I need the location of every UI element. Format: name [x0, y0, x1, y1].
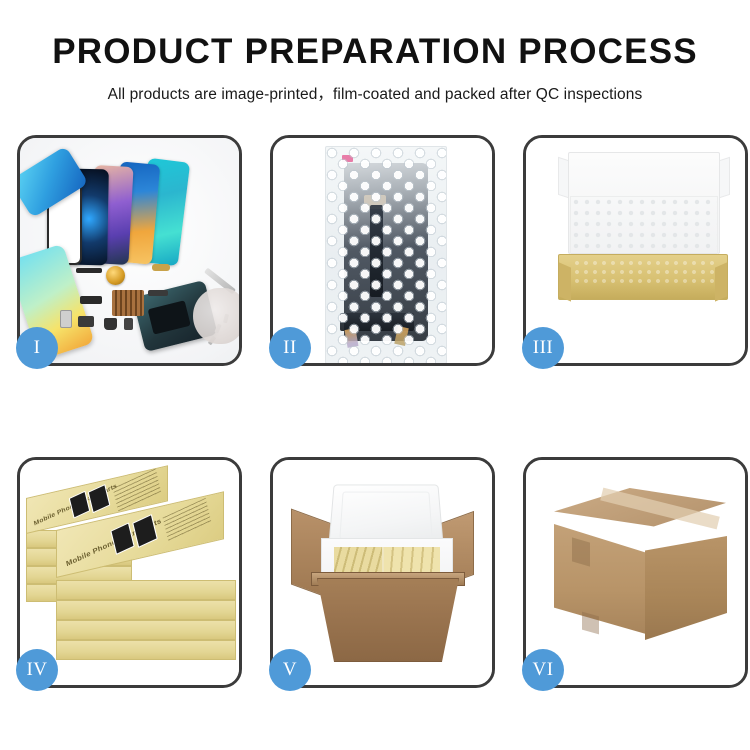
step-badge-3: III: [522, 327, 564, 369]
page-title: PRODUCT PREPARATION PROCESS: [0, 34, 750, 71]
gold-connector-icon: [152, 264, 170, 271]
process-step-panel-3: III: [523, 135, 748, 366]
page-subtitle: All products are image-printed，film-coat…: [0, 82, 750, 104]
step-2-illustration: [273, 138, 492, 363]
product-preparation-page: PRODUCT PREPARATION PROCESS All products…: [0, 0, 750, 750]
bubble-texture-icon: [326, 147, 446, 363]
kraft-tray-icon: [558, 254, 728, 300]
box-artwork-screen-icon: [110, 522, 134, 555]
step-5-illustration: [273, 460, 492, 685]
copper-coil-icon: [106, 266, 125, 285]
ribbon-cable-icon: [148, 290, 168, 296]
chip-grid-icon: [112, 290, 144, 316]
step-badge-1: I: [16, 327, 58, 369]
process-step-panel-1: I: [17, 135, 242, 366]
step-4-illustration: Mobile Phone Spare Parts Mobile Phone Sp…: [20, 460, 239, 685]
tray-left-lip-icon: [559, 262, 571, 301]
process-step-grid: I II: [17, 135, 733, 680]
button-part-icon: [124, 318, 133, 330]
step-3-illustration: [526, 138, 745, 363]
step-badge-6: VI: [522, 649, 564, 691]
step-6-illustration: [526, 460, 745, 685]
box-spec-lines: [113, 468, 162, 512]
process-step-panel-4: Mobile Phone Spare Parts Mobile Phone Sp…: [17, 457, 242, 688]
small-flex-cable-icon: [80, 296, 102, 304]
carton-side-face: [645, 536, 727, 640]
retail-box-edge: [56, 600, 236, 620]
sim-tray-icon: [60, 310, 72, 328]
process-step-panel-6: VI: [523, 457, 748, 688]
carton-front-face: [554, 524, 646, 634]
hand-icon: [193, 288, 239, 344]
retail-box-edge: [56, 640, 236, 660]
page-header: PRODUCT PREPARATION PROCESS All products…: [0, 0, 750, 104]
retail-box-edge: [56, 620, 236, 640]
flex-cable-icon: [76, 268, 102, 273]
step-badge-5: V: [269, 649, 311, 691]
step-1-illustration: [20, 138, 239, 363]
tray-right-lip-icon: [715, 262, 727, 301]
retail-box-edge: [56, 580, 236, 600]
step-badge-4: IV: [16, 649, 58, 691]
brown-carton-icon: [317, 578, 459, 662]
bubble-wrapped-screens-icon: [573, 259, 715, 285]
speaker-part-icon: [104, 318, 117, 330]
box-spec-lines: [163, 498, 212, 542]
camera-module-icon: [78, 316, 94, 327]
bubble-wrap-bag-icon: [325, 146, 447, 363]
process-step-panel-2: II: [270, 135, 495, 366]
carton-flap-seam-icon: [572, 537, 590, 566]
step-badge-2: II: [269, 327, 311, 369]
process-step-panel-5: V: [270, 457, 495, 688]
foam-padding-icon: [570, 196, 718, 260]
retail-box-stack: Mobile Phone Spare Parts Mobile Phone Sp…: [26, 484, 238, 668]
carton-flap-seam-icon: [582, 612, 599, 635]
sealed-shipping-carton-icon: [550, 488, 730, 648]
